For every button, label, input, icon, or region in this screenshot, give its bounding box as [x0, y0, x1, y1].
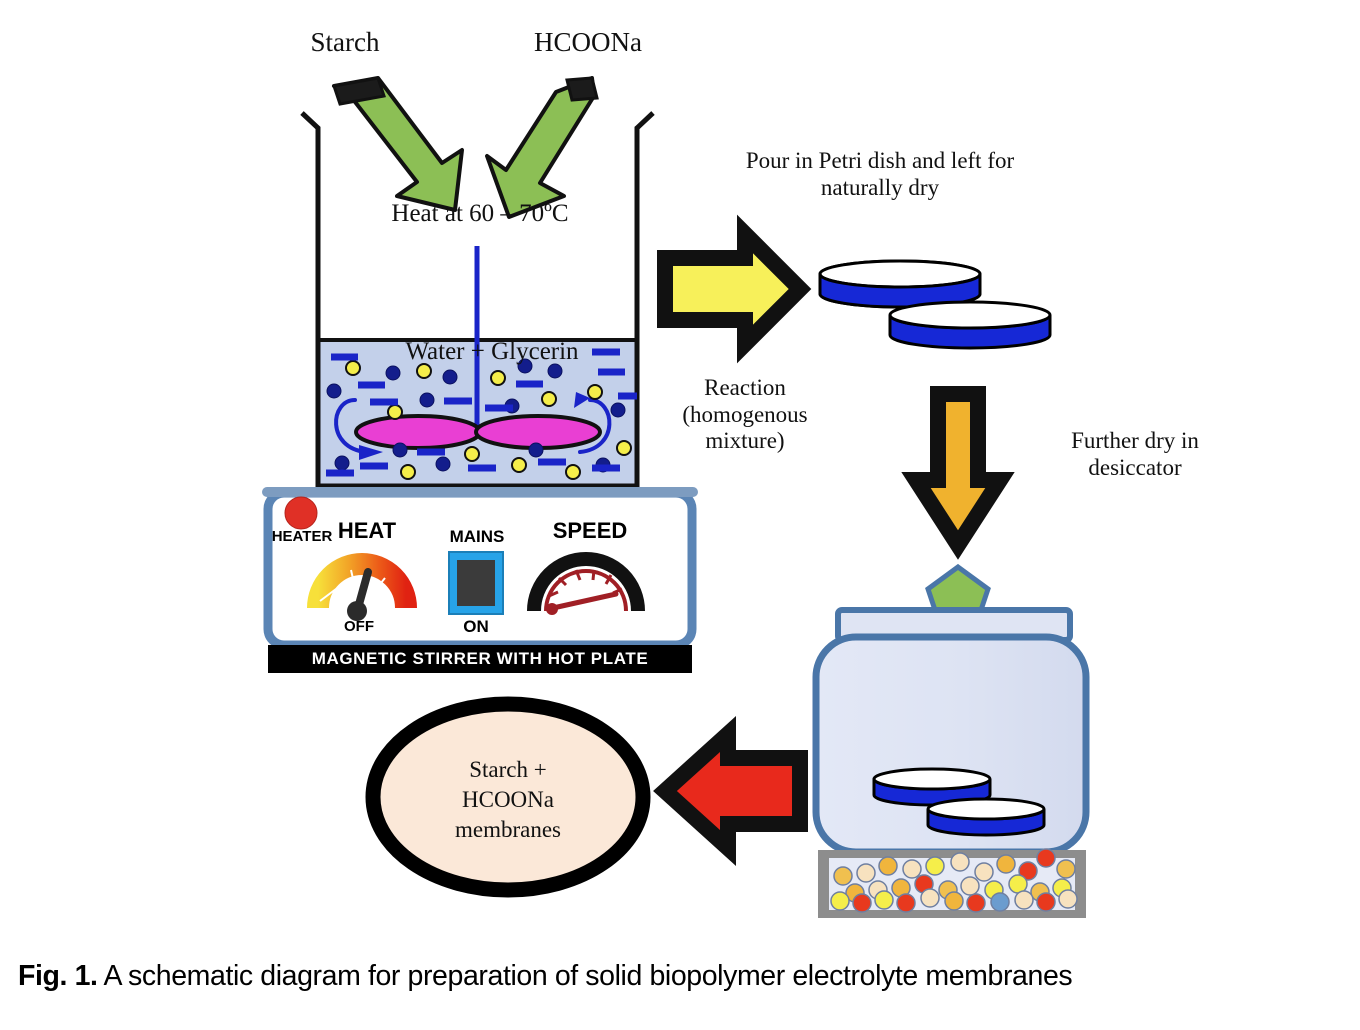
label-pour-step-line2: naturally dry	[700, 175, 1060, 202]
label-pour-step: Pour in Petri dish and left for naturall…	[700, 148, 1060, 201]
mains-state-label: ON	[449, 617, 503, 637]
petri-dish	[890, 302, 1050, 348]
heat-label: HEAT	[327, 518, 407, 544]
petri-dishes-drying	[820, 261, 1050, 348]
hcoona-input-arrow	[487, 78, 597, 217]
label-product-line3: membranes	[408, 815, 608, 845]
label-reaction-line3: mixture)	[645, 428, 845, 455]
label-reaction-line2: (homogenous	[645, 402, 845, 429]
starch-input-arrow	[334, 78, 462, 210]
label-product-line2: HCOONa	[408, 785, 608, 815]
figure-caption: Fig. 1. A schematic diagram for preparat…	[18, 960, 1348, 993]
label-starch-input: Starch	[270, 27, 420, 58]
product-arrow	[665, 734, 800, 848]
label-desiccator-line1: Further dry in	[1010, 428, 1260, 455]
label-heat-temperature: Heat at 60 – 70ºC	[355, 199, 605, 228]
label-reaction-step: Reaction (homogenous mixture)	[645, 375, 845, 455]
label-product-line1: Starch +	[408, 755, 608, 785]
pour-arrow	[665, 234, 800, 344]
label-desiccator-step: Further dry in desiccator	[1010, 428, 1260, 481]
desiccator	[816, 567, 1086, 918]
mains-switch[interactable]	[449, 552, 503, 614]
label-solvent-mixture: Water + Glycerin	[377, 337, 607, 366]
petri-dish	[820, 261, 980, 307]
beaker	[302, 113, 653, 486]
stirrer-nameplate: MAGNETIC STIRRER WITH HOT PLATE	[268, 645, 692, 673]
desiccator-arrow	[916, 394, 1000, 545]
label-product: Starch + HCOONa membranes	[408, 755, 608, 845]
mains-label: MAINS	[440, 527, 514, 547]
speed-label: SPEED	[545, 518, 635, 544]
schematic-svg	[0, 0, 1360, 1030]
figure-caption-text: A schematic diagram for preparation of s…	[98, 960, 1073, 992]
label-pour-step-line1: Pour in Petri dish and left for	[700, 148, 1060, 175]
label-desiccator-line2: desiccator	[1010, 455, 1260, 482]
heat-off-label: OFF	[332, 618, 386, 635]
figure-caption-prefix: Fig. 1.	[18, 960, 98, 992]
desiccant-tray	[818, 849, 1086, 918]
figure-schematic-diagram: Starch HCOONa Heat at 60 – 70ºC Water + …	[0, 0, 1360, 1030]
petri-dish	[928, 799, 1044, 835]
label-hcoona-input: HCOONa	[505, 27, 671, 58]
label-reaction-line1: Reaction	[645, 375, 845, 402]
heater-indicator-led	[285, 497, 317, 529]
